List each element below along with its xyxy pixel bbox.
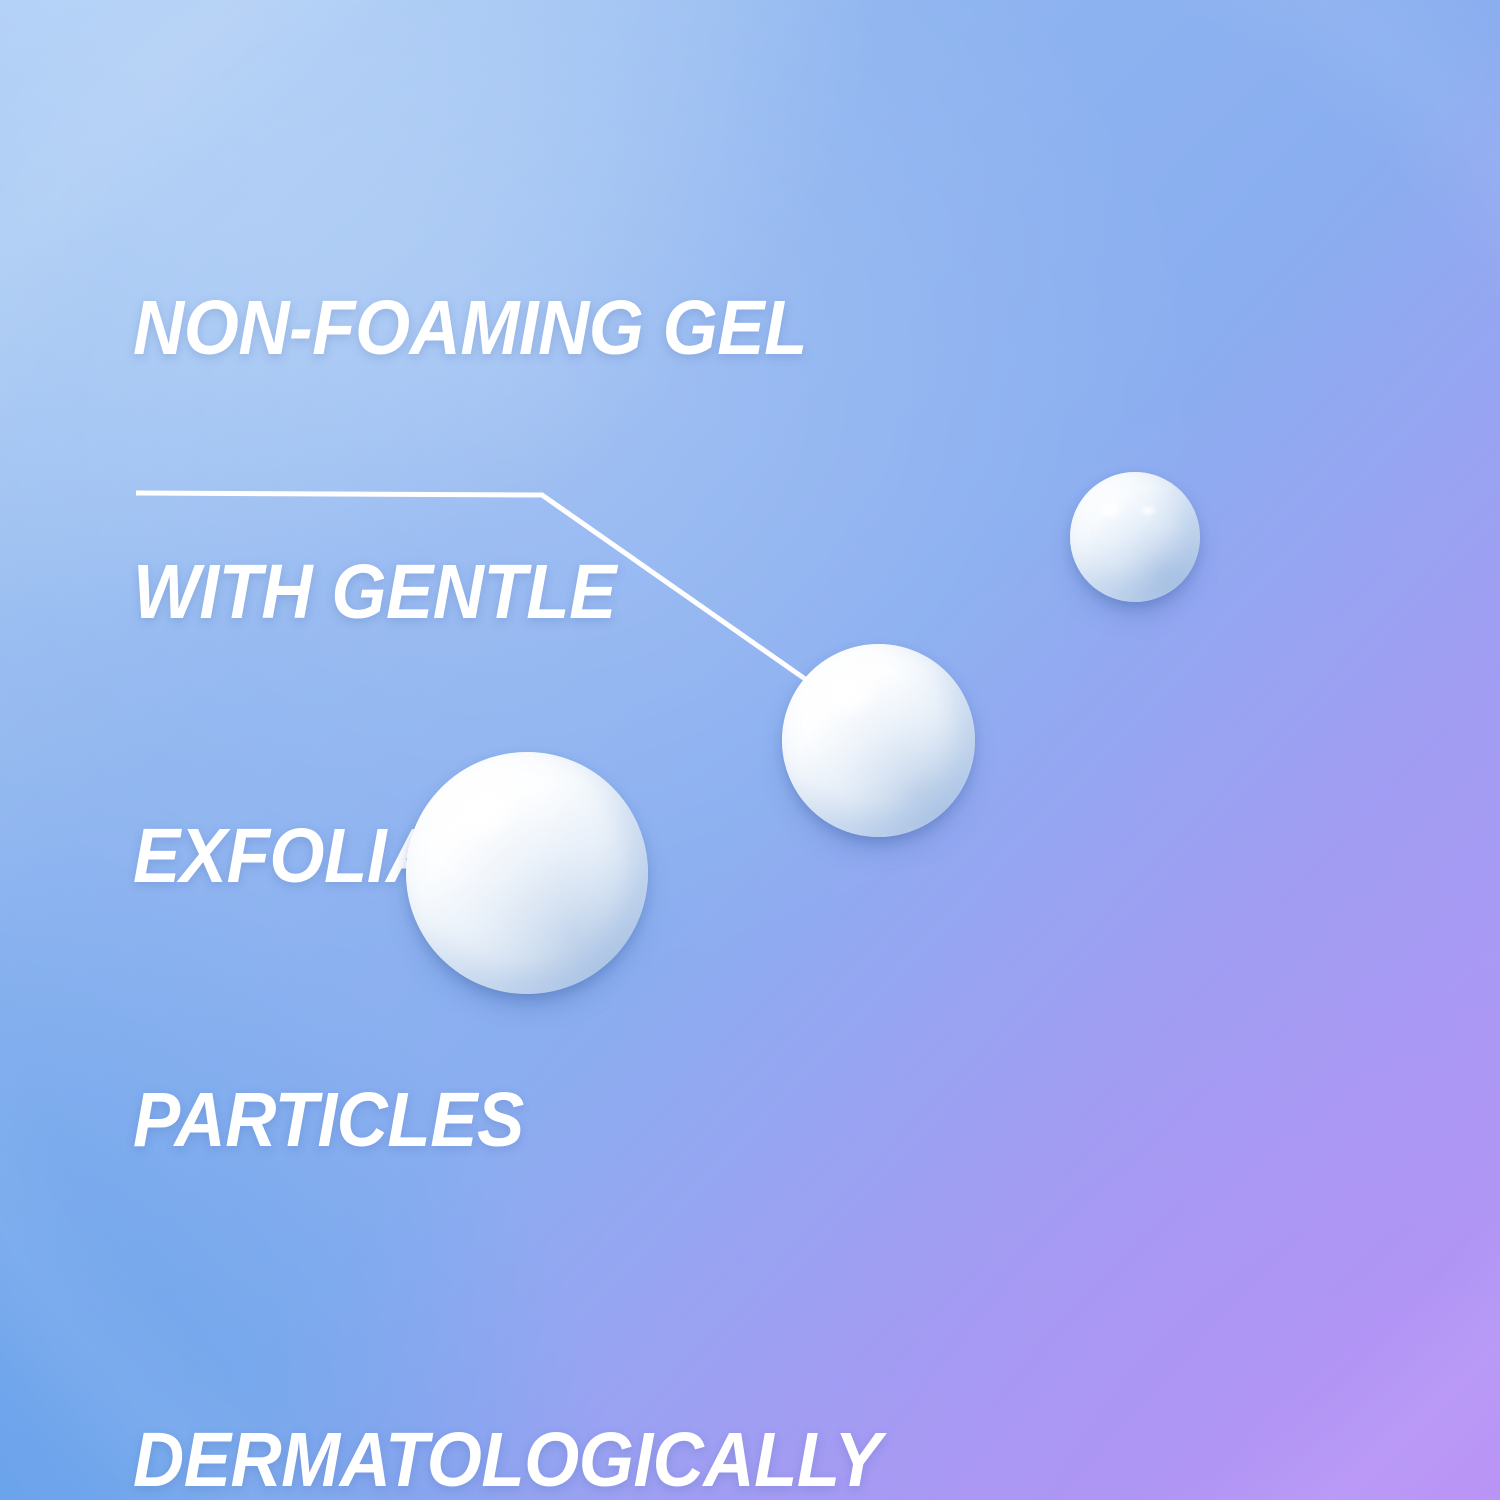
droplet-rim-shadow bbox=[782, 644, 975, 837]
claim-text: DERMATOLOGICALLY TESTED bbox=[133, 1240, 881, 1500]
claim-line-1: DERMATOLOGICALLY bbox=[133, 1416, 881, 1500]
gel-droplet-large bbox=[406, 752, 648, 994]
droplet-rim-shadow bbox=[1070, 472, 1200, 602]
headline-line-2: WITH GENTLE bbox=[133, 548, 807, 636]
gel-droplet-middle bbox=[782, 644, 975, 837]
droplet-highlight-secondary bbox=[1140, 505, 1156, 517]
product-feature-image: NON-FOAMING GEL WITH GENTLE EXFOLIATING … bbox=[0, 0, 1500, 1500]
droplet-rim-shadow bbox=[406, 752, 648, 994]
headline-text: NON-FOAMING GEL WITH GENTLE EXFOLIATING … bbox=[133, 108, 807, 1340]
headline-line-4: PARTICLES bbox=[133, 1076, 807, 1164]
headline-line-1: NON-FOAMING GEL bbox=[133, 284, 807, 372]
gel-droplet-small bbox=[1070, 472, 1200, 602]
